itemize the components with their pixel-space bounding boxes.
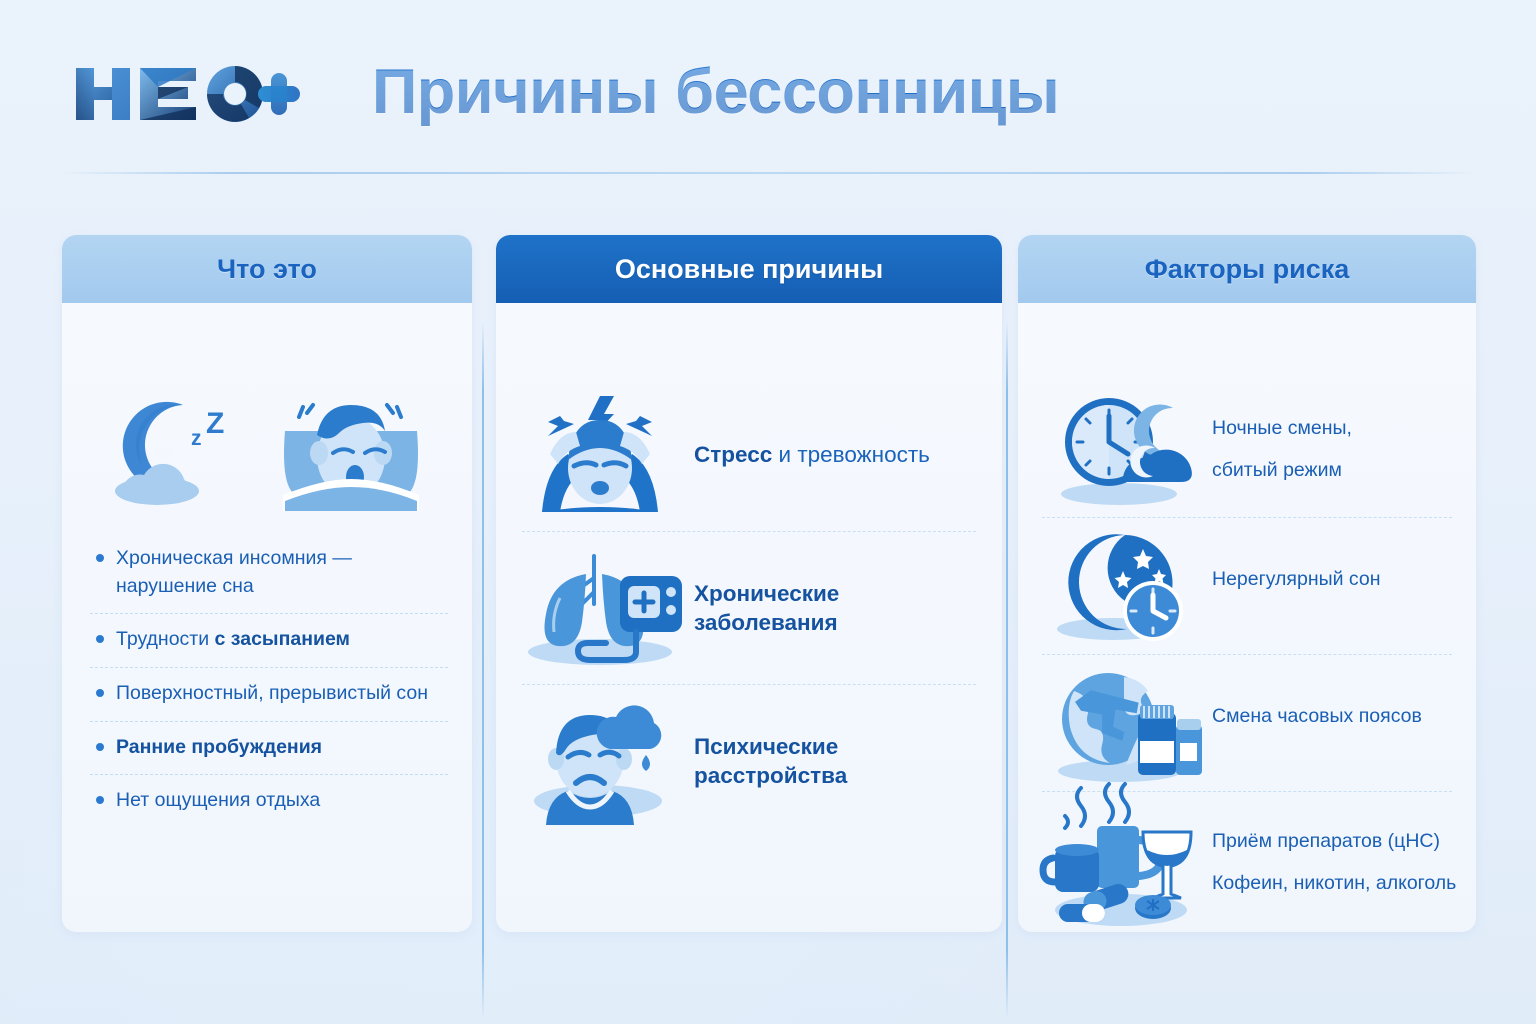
list-item-line1: Смена часовых поясов xyxy=(1212,702,1422,730)
card-main-causes: Основные причины xyxy=(496,235,1002,932)
list-item: Приём препаратов (цНС) Кофеин, никотин, … xyxy=(1018,792,1476,932)
card-risk-factors-body: Ночные смены, сбитый режим xyxy=(1018,303,1476,932)
list-item-strong: Ранние пробуждения xyxy=(116,736,322,758)
list-item: Поверхностный, прерывистый сон xyxy=(86,668,452,721)
list-item: Ранние пробуждения xyxy=(86,722,452,775)
card-main-causes-body: Стресс и тревожность xyxy=(496,303,1002,932)
page-title: Причины бессонницы xyxy=(372,56,1059,128)
bullet-dot-icon xyxy=(96,554,104,562)
risk-factors-list: Ночные смены, сбитый режим xyxy=(1018,381,1476,932)
page-header: Причины бессонницы xyxy=(0,0,1536,172)
bullet-dot-icon xyxy=(96,796,104,804)
list-item: Трудности с засыпанием xyxy=(86,614,452,667)
main-causes-list: Стресс и тревожность xyxy=(496,379,1002,837)
list-item-text: Нет ощущения отдыха xyxy=(116,789,320,811)
bullet-dot-icon xyxy=(96,689,104,697)
list-item: Хроническая инсомния — нарушение сна xyxy=(86,533,452,613)
sleeping-person-icon xyxy=(275,391,427,511)
infographic-page: Причины бессонницы Что это Z z xyxy=(0,0,1536,1024)
card-what-is-body: Z z xyxy=(62,303,472,932)
svg-text:Z: Z xyxy=(206,407,224,440)
neo-plus-logo xyxy=(72,63,300,125)
card-risk-factors: Факторы риска xyxy=(1018,235,1476,932)
list-item-strong: Психические расстройства xyxy=(694,734,847,788)
clock-moon-icon xyxy=(1032,390,1212,508)
list-item-text: Трудности xyxy=(116,628,215,650)
bullet-dot-icon xyxy=(96,635,104,643)
list-item-text: и тревожность xyxy=(772,442,930,467)
columns-container: Что это Z z xyxy=(0,235,1536,935)
list-item: Ночные смены, сбитый режим xyxy=(1018,381,1476,517)
list-item-strong: с засыпанием xyxy=(215,628,350,650)
list-item-text: Хроническая инсомния — нарушение сна xyxy=(116,547,352,597)
logo-icon xyxy=(72,62,300,126)
list-item: Психические расстройства xyxy=(496,685,1002,837)
card-risk-factors-heading: Факторы риска xyxy=(1018,235,1476,303)
what-is-hero-illustration: Z z xyxy=(62,375,472,527)
globe-plane-pills-icon xyxy=(1032,663,1212,783)
svg-text:z: z xyxy=(191,427,202,450)
bullet-dot-icon xyxy=(96,743,104,751)
list-item-text: Поверхностный, прерывистый сон xyxy=(116,682,428,704)
stress-head-icon xyxy=(510,390,690,520)
card-what-is-heading: Что это xyxy=(62,235,472,303)
header-divider xyxy=(60,172,1476,174)
list-item-line1: Приём препаратов (цНС) xyxy=(1212,827,1456,855)
list-item: Нет ощущения отдыха xyxy=(86,775,452,828)
list-item-strong: Стресс xyxy=(694,442,772,467)
moon-stars-clock-icon xyxy=(1032,527,1212,645)
moon-zzz-icon: Z z xyxy=(107,391,257,511)
list-item-strong: Хронические заболевания xyxy=(694,581,839,635)
list-item-line1: Нерегулярный сон xyxy=(1212,565,1381,593)
list-item: Стресс и тревожность xyxy=(496,379,1002,531)
what-is-bullet-list: Хроническая инсомния — нарушение сна Тру… xyxy=(86,533,452,828)
list-item-line1: Ночные смены, xyxy=(1212,414,1352,442)
list-item: Хронические заболевания xyxy=(496,532,1002,684)
sad-cloud-person-icon xyxy=(510,697,690,825)
list-item: Смена часовых поясов xyxy=(1018,655,1476,791)
list-item: Нерегулярный сон xyxy=(1018,518,1476,654)
list-item-line2: сбитый режим xyxy=(1212,456,1352,484)
coffee-wine-pills-icon xyxy=(1032,792,1212,932)
lungs-monitor-icon xyxy=(510,548,690,668)
card-what-is: Что это Z z xyxy=(62,235,472,932)
card-main-causes-heading: Основные причины xyxy=(496,235,1002,303)
list-item-line2: Кофеин, никотин, алкоголь xyxy=(1212,869,1456,897)
